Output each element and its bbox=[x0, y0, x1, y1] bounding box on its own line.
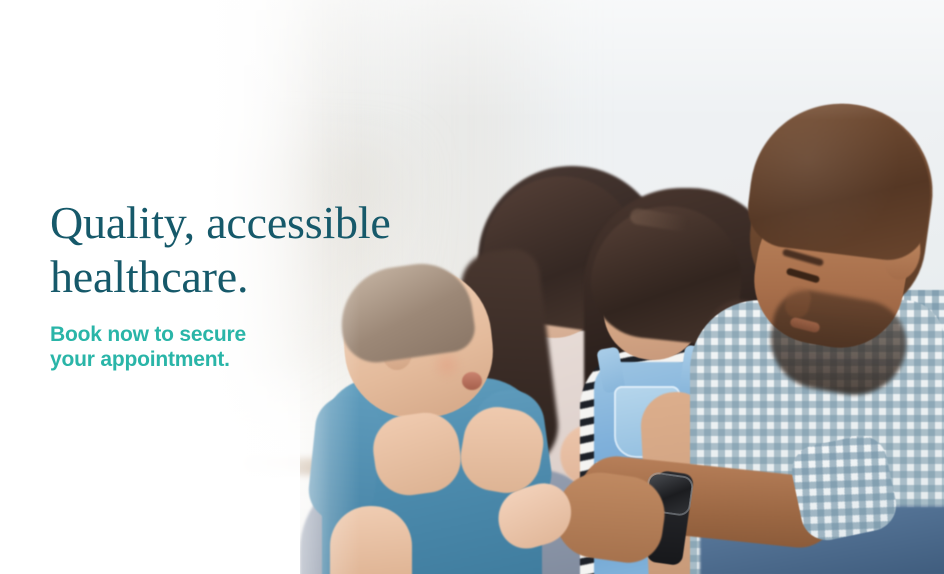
father-hair bbox=[744, 94, 941, 265]
banner-copy-block: Quality, accessible healthcare. Book now… bbox=[50, 196, 470, 372]
subhead-line-1: Book now to secure bbox=[50, 322, 470, 347]
bottom-white-overlay bbox=[0, 364, 300, 574]
page-title: Quality, accessible healthcare. bbox=[50, 196, 470, 304]
baby-leg bbox=[330, 506, 412, 574]
headline-line-1: Quality, accessible bbox=[50, 196, 470, 250]
headline-line-2: healthcare. bbox=[50, 250, 470, 304]
subhead-line-2: your appointment. bbox=[50, 347, 470, 372]
subhead: Book now to secure your appointment. bbox=[50, 322, 470, 372]
baby-mouth bbox=[462, 372, 482, 390]
healthcare-hero-banner: Quality, accessible healthcare. Book now… bbox=[0, 0, 944, 574]
